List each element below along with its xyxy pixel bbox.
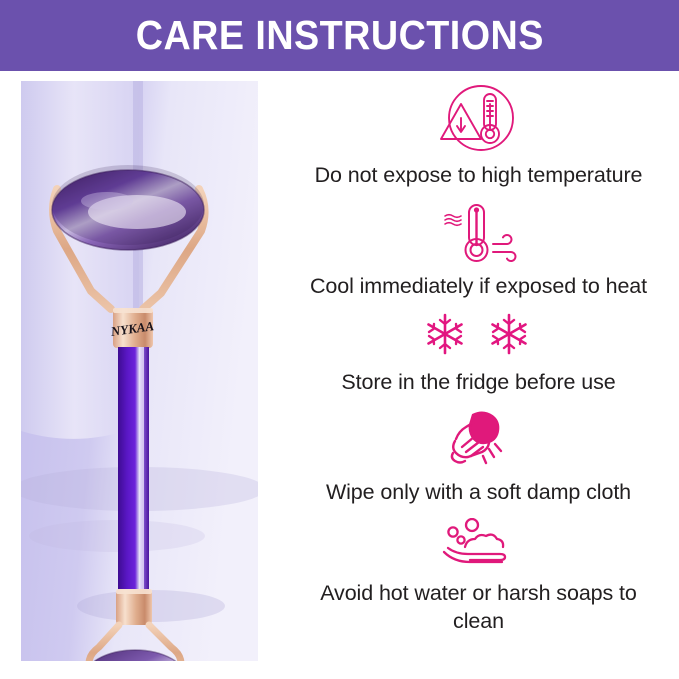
snowflake-pair-icon (423, 312, 535, 356)
thermometer-cooling-icon (431, 202, 527, 266)
hand-wiping-cloth-icon (443, 409, 515, 471)
instruction-item-1: Do not expose to high temperature (278, 80, 679, 190)
instruction-item-4: Wipe only with a soft damp cloth (278, 397, 679, 507)
care-instructions-list: Do not expose to high temperature Cool i… (278, 80, 679, 670)
instruction-text-5: Avoid hot water or harsh soaps to clean (309, 580, 649, 635)
thermometer-warning-icon (437, 82, 521, 156)
instruction-item-3: Store in the fridge before use (278, 300, 679, 397)
instruction-text-4: Wipe only with a soft damp cloth (309, 479, 649, 507)
product-photo: NYKAA (21, 81, 258, 661)
page-title: CARE INSTRUCTIONS (135, 15, 543, 56)
instruction-item-5: Avoid hot water or harsh soaps to clean (278, 506, 679, 635)
hand-soap-bubbles-icon (436, 518, 522, 570)
instruction-item-2: Cool immediately if exposed to heat (278, 190, 679, 301)
instruction-text-2: Cool immediately if exposed to heat (309, 273, 649, 301)
product-photo-illustration: NYKAA (21, 81, 258, 661)
header-banner: CARE INSTRUCTIONS (0, 0, 679, 71)
instruction-text-3: Store in the fridge before use (309, 369, 649, 397)
instruction-text-1: Do not expose to high temperature (309, 162, 649, 190)
